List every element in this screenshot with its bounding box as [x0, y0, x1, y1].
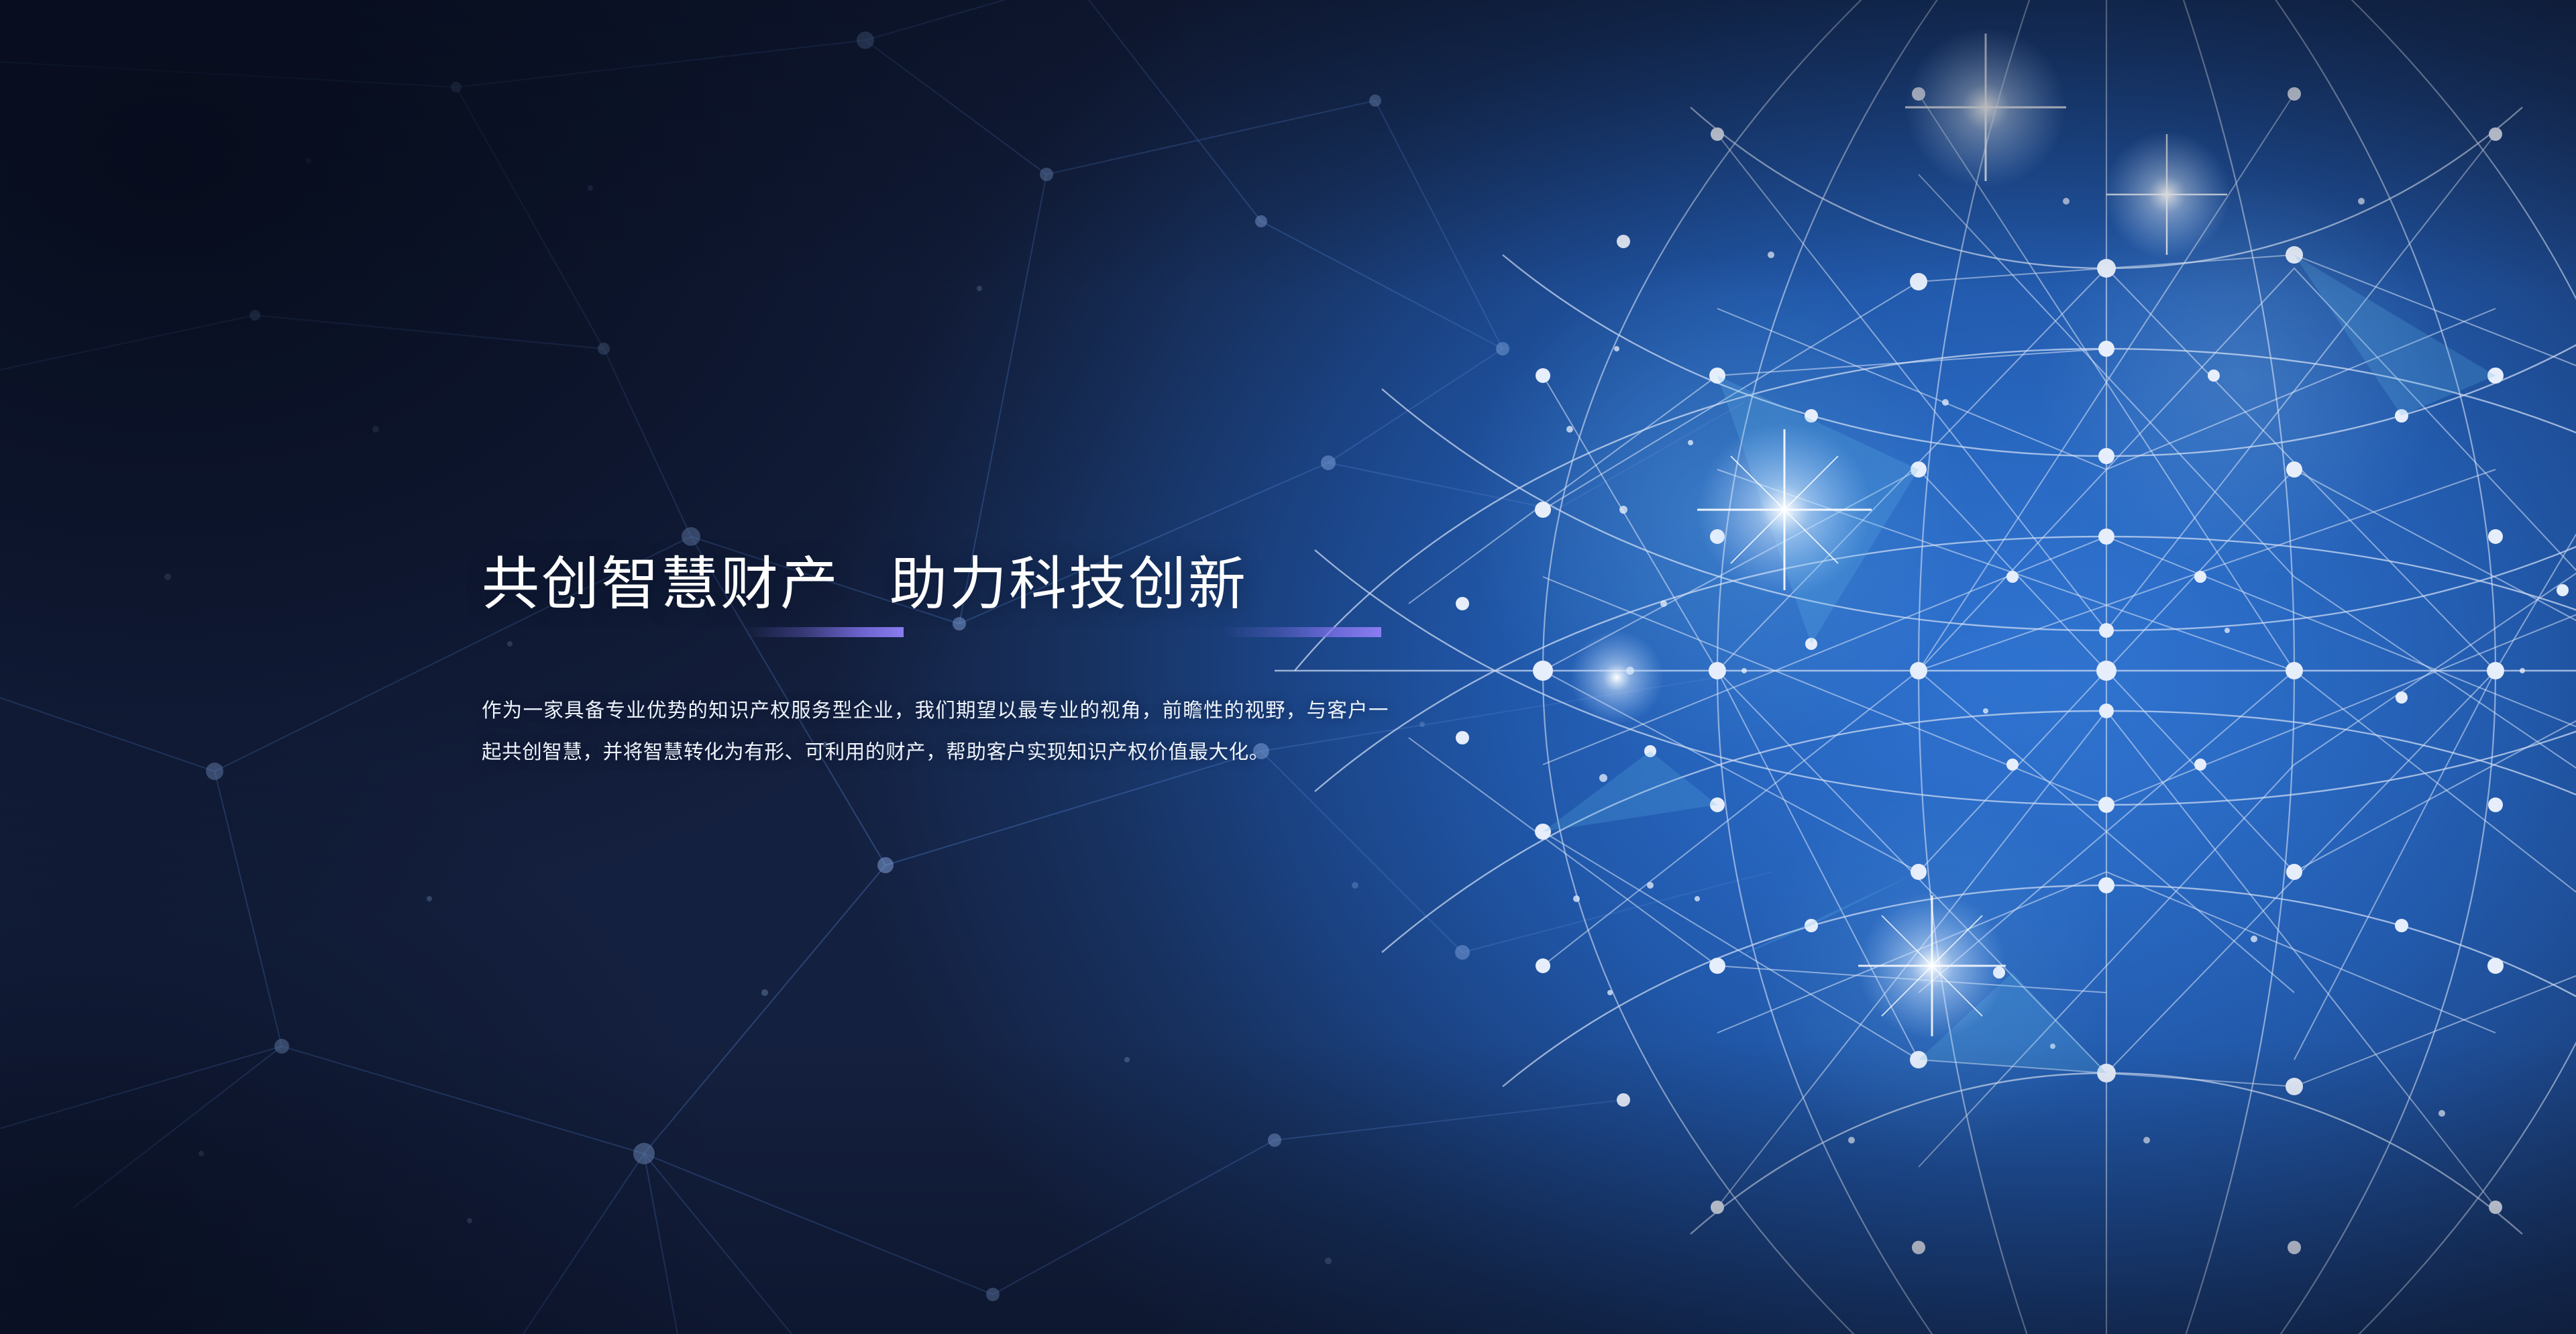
page-title: 共创智慧财产 助力科技创新 [482, 554, 1421, 615]
headline-segment-2: 助力科技创新 [890, 554, 1248, 615]
accent-bar-row [482, 627, 1421, 638]
accent-bar-under-caichan [745, 627, 904, 637]
hero-banner: 共创智慧财产 助力科技创新 作为一家具备专业优势的知识产权服务型企业，我们期望以… [0, 0, 2576, 1334]
hero-text-block: 共创智慧财产 助力科技创新 作为一家具备专业优势的知识产权服务型企业，我们期望以… [482, 554, 1421, 793]
hero-description: 作为一家具备专业优势的知识产权服务型企业，我们期望以最专业的视角，前瞻性的视野，… [482, 690, 1389, 773]
headline-segment-1: 共创智慧财产 [482, 554, 840, 615]
accent-bar-under-chuangxin [1222, 627, 1381, 637]
